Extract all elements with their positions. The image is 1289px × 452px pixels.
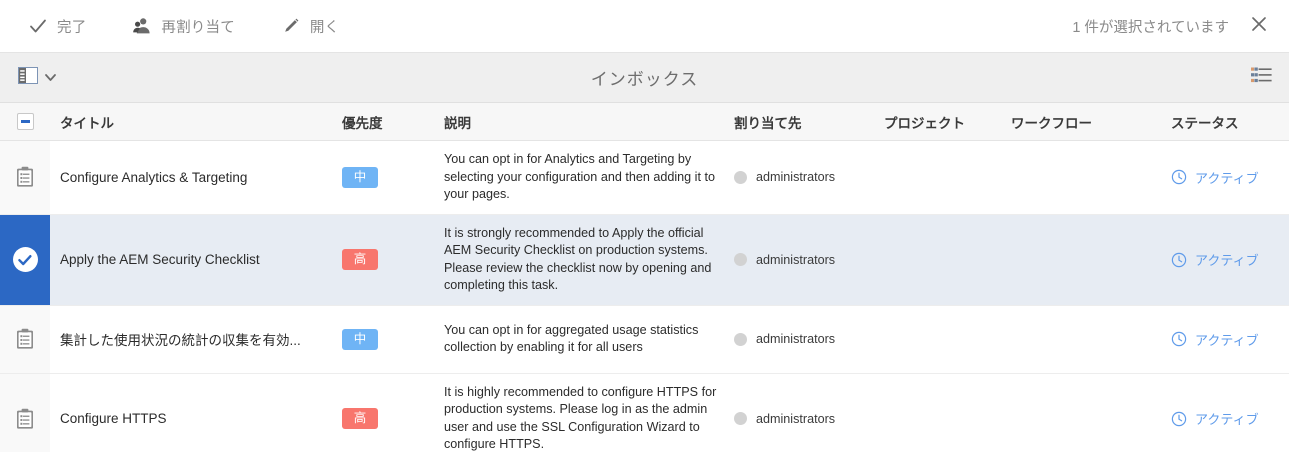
page-title: インボックス bbox=[0, 65, 1289, 90]
reassign-button-label: 再割り当て bbox=[161, 16, 235, 37]
chevron-down-icon bbox=[45, 69, 56, 87]
clock-icon bbox=[1171, 169, 1187, 185]
row-workflow-cell bbox=[1011, 215, 1171, 305]
clock-icon bbox=[1171, 411, 1187, 427]
clock-icon bbox=[1171, 331, 1187, 347]
avatar bbox=[734, 412, 747, 425]
row-assignee: administrators bbox=[756, 412, 835, 426]
inbox-task-table: タイトル 優先度 説明 割り当て先 プロジェクト ワークフロー ステータス bbox=[0, 103, 1289, 452]
row-title: Configure Analytics & Targeting bbox=[60, 170, 247, 185]
avatar bbox=[734, 171, 747, 184]
row-select-toggle[interactable] bbox=[0, 374, 50, 452]
row-priority-cell: 高 bbox=[342, 215, 444, 305]
selection-count-label: 1 件が選択されています bbox=[1072, 16, 1229, 37]
row-title: 集計した使用状況の統計の収集を有効... bbox=[60, 329, 301, 349]
rail-panel-icon bbox=[18, 67, 38, 89]
table-header-row: タイトル 優先度 説明 割り当て先 プロジェクト ワークフロー ステータス bbox=[0, 103, 1289, 141]
row-select-toggle[interactable] bbox=[0, 215, 50, 305]
close-selection-button[interactable] bbox=[1247, 14, 1271, 38]
row-priority-cell: 高 bbox=[342, 374, 444, 452]
row-status-cell: アクティブ bbox=[1171, 141, 1289, 214]
check-circle-icon bbox=[13, 247, 38, 272]
column-header-description[interactable]: 説明 bbox=[444, 102, 734, 142]
row-project-cell bbox=[884, 141, 1011, 214]
rail-toggle-button[interactable] bbox=[14, 63, 60, 93]
clipboard-task-icon bbox=[15, 408, 35, 430]
reassign-user-icon bbox=[132, 16, 152, 36]
view-options-button[interactable] bbox=[1249, 65, 1275, 91]
row-select-toggle[interactable] bbox=[0, 306, 50, 373]
row-status-cell: アクティブ bbox=[1171, 374, 1289, 452]
row-status-cell: アクティブ bbox=[1171, 215, 1289, 305]
clipboard-task-icon bbox=[15, 166, 35, 188]
table-row[interactable]: Apply the AEM Security Checklist 高 It is… bbox=[0, 215, 1289, 306]
row-title: Configure HTTPS bbox=[60, 411, 167, 426]
row-assignee-cell: administrators bbox=[734, 306, 884, 373]
column-header-project[interactable]: プロジェクト bbox=[884, 112, 1011, 132]
close-icon bbox=[1250, 15, 1268, 38]
row-select-cell[interactable] bbox=[0, 215, 50, 305]
row-description: You can opt in for Analytics and Targeti… bbox=[444, 151, 718, 204]
row-assignee: administrators bbox=[756, 253, 835, 267]
avatar bbox=[734, 253, 747, 266]
row-priority-cell: 中 bbox=[342, 306, 444, 373]
row-status: アクティブ bbox=[1195, 330, 1259, 349]
table-row[interactable]: 集計した使用状況の統計の収集を有効... 中 You can opt in fo… bbox=[0, 306, 1289, 374]
priority-badge: 中 bbox=[342, 329, 378, 350]
row-title-cell[interactable]: Configure HTTPS bbox=[50, 374, 342, 452]
avatar bbox=[734, 333, 747, 346]
complete-button-label: 完了 bbox=[57, 16, 86, 37]
pencil-icon bbox=[281, 16, 301, 36]
row-description: You can opt in for aggregated usage stat… bbox=[444, 322, 718, 357]
priority-badge: 高 bbox=[342, 249, 378, 270]
priority-badge: 高 bbox=[342, 408, 378, 429]
open-button[interactable]: 開く bbox=[275, 10, 353, 43]
row-project-cell bbox=[884, 374, 1011, 452]
row-workflow-cell bbox=[1011, 374, 1171, 452]
row-status-cell: アクティブ bbox=[1171, 306, 1289, 373]
row-status: アクティブ bbox=[1195, 250, 1259, 269]
inbox-page: 完了 再割り当て 開く 1 件が選択され bbox=[0, 0, 1289, 452]
open-button-label: 開く bbox=[310, 16, 339, 37]
selection-action-bar: 完了 再割り当て 開く 1 件が選択され bbox=[0, 0, 1289, 53]
row-assignee-cell: administrators bbox=[734, 141, 884, 214]
view-options-icon bbox=[1251, 66, 1273, 89]
column-header-workflow[interactable]: ワークフロー bbox=[1011, 112, 1171, 132]
table-row[interactable]: Configure Analytics & Targeting 中 You ca… bbox=[0, 141, 1289, 215]
priority-badge: 中 bbox=[342, 167, 378, 188]
row-status: アクティブ bbox=[1195, 168, 1259, 187]
page-header-bar: インボックス bbox=[0, 53, 1289, 103]
indeterminate-dash-icon bbox=[21, 120, 30, 123]
reassign-button[interactable]: 再割り当て bbox=[126, 10, 249, 43]
checkmark-icon bbox=[28, 16, 48, 36]
row-title-cell[interactable]: 集計した使用状況の統計の収集を有効... bbox=[50, 306, 342, 373]
row-select-cell[interactable] bbox=[0, 306, 50, 373]
row-description-cell: You can opt in for Analytics and Targeti… bbox=[444, 141, 734, 214]
row-select-cell[interactable] bbox=[0, 141, 50, 214]
column-header-status[interactable]: ステータス bbox=[1171, 112, 1289, 132]
row-title: Apply the AEM Security Checklist bbox=[60, 252, 260, 267]
column-header-priority[interactable]: 優先度 bbox=[342, 112, 444, 132]
clipboard-task-icon bbox=[15, 328, 35, 350]
table-body: Configure Analytics & Targeting 中 You ca… bbox=[0, 141, 1289, 452]
complete-button[interactable]: 完了 bbox=[22, 10, 100, 43]
row-description-cell: It is strongly recommended to Apply the … bbox=[444, 215, 734, 305]
row-description: It is strongly recommended to Apply the … bbox=[444, 225, 718, 295]
row-workflow-cell bbox=[1011, 141, 1171, 214]
row-description-cell: It is highly recommended to configure HT… bbox=[444, 374, 734, 452]
table-row[interactable]: Configure HTTPS 高 It is highly recommend… bbox=[0, 374, 1289, 452]
row-select-cell[interactable] bbox=[0, 374, 50, 452]
select-all-cell[interactable] bbox=[0, 113, 50, 130]
row-project-cell bbox=[884, 215, 1011, 305]
row-assignee-cell: administrators bbox=[734, 374, 884, 452]
column-header-title[interactable]: タイトル bbox=[50, 112, 342, 132]
row-title-cell[interactable]: Configure Analytics & Targeting bbox=[50, 141, 342, 214]
row-project-cell bbox=[884, 306, 1011, 373]
row-priority-cell: 中 bbox=[342, 141, 444, 214]
row-title-cell[interactable]: Apply the AEM Security Checklist bbox=[50, 215, 342, 305]
row-workflow-cell bbox=[1011, 306, 1171, 373]
clock-icon bbox=[1171, 252, 1187, 268]
row-select-toggle[interactable] bbox=[0, 141, 50, 214]
row-status: アクティブ bbox=[1195, 409, 1259, 428]
select-all-checkbox[interactable] bbox=[17, 113, 34, 130]
row-assignee: administrators bbox=[756, 332, 835, 346]
row-description: It is highly recommended to configure HT… bbox=[444, 384, 718, 452]
column-header-assignee[interactable]: 割り当て先 bbox=[734, 112, 884, 132]
row-description-cell: You can opt in for aggregated usage stat… bbox=[444, 306, 734, 373]
row-assignee: administrators bbox=[756, 170, 835, 184]
row-assignee-cell: administrators bbox=[734, 215, 884, 305]
